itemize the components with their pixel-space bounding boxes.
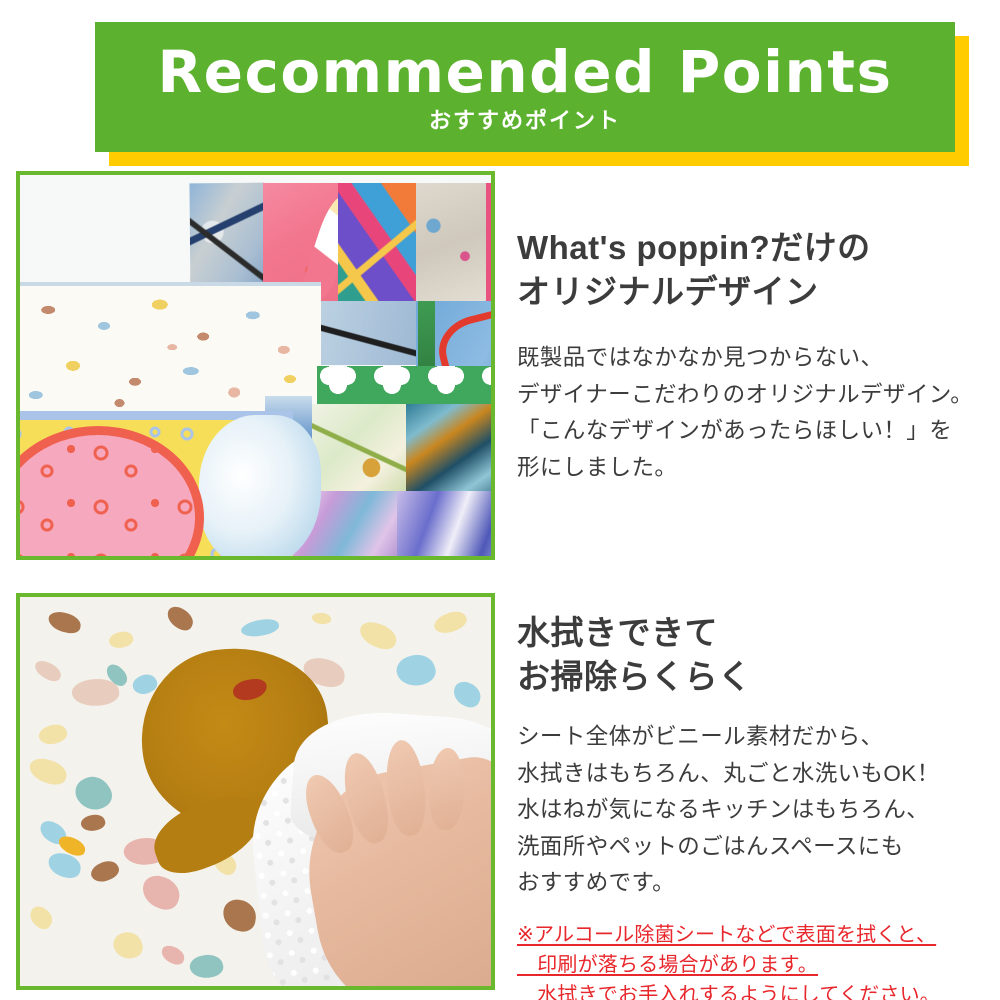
page-title: Recommended Points [157, 43, 892, 101]
header-banner: Recommended Points おすすめポイント [95, 22, 955, 152]
section-wipeable-text: 水拭きできて お掃除らくらく シート全体がビニール素材だから、 水拭きはもちろん… [517, 611, 940, 1000]
section-body-wipeable: シート全体がビニール素材だから、 水拭きはもちろん、丸ごと水洗いもOK！ 水はね… [517, 719, 940, 901]
designs-photo-canvas [20, 175, 491, 556]
section-heading-wipeable: 水拭きできて お掃除らくらく [517, 611, 940, 699]
hand [293, 751, 491, 986]
design-sheet-concrete [416, 183, 487, 305]
page-subtitle: おすすめポイント [429, 110, 621, 132]
photo-original-designs [16, 171, 495, 560]
design-sheet-ink-wash [199, 415, 321, 556]
section-body-original-design: 既製品ではなかなか見つからない、 デザイナーこだわりのオリジナルデザイン。 「こ… [517, 340, 973, 486]
banner-green-body: Recommended Points おすすめポイント [95, 22, 955, 152]
design-sheet-vivid-graffiti [338, 183, 416, 305]
section-heading-original-design: What's poppin?だけの オリジナルデザイン [517, 226, 973, 314]
section-original-design-text: What's poppin?だけの オリジナルデザイン 既製品ではなかなか見つか… [517, 226, 973, 486]
design-sheet-marble-green [312, 404, 411, 495]
design-sheet-marble-indigo [397, 491, 491, 556]
recommended-points-page: Recommended Points おすすめポイント What's p [0, 0, 1000, 1000]
design-sheet-green-stripe [486, 183, 491, 305]
photo-wipeable-demo [16, 593, 495, 990]
section-note-wipeable: ※アルコール除菌シートなどで表面を拭くと、 印刷が落ちる場合があります。 水拭き… [517, 920, 940, 1000]
wipe-photo-canvas [20, 597, 491, 986]
design-sheet-marble-teal [406, 404, 491, 495]
